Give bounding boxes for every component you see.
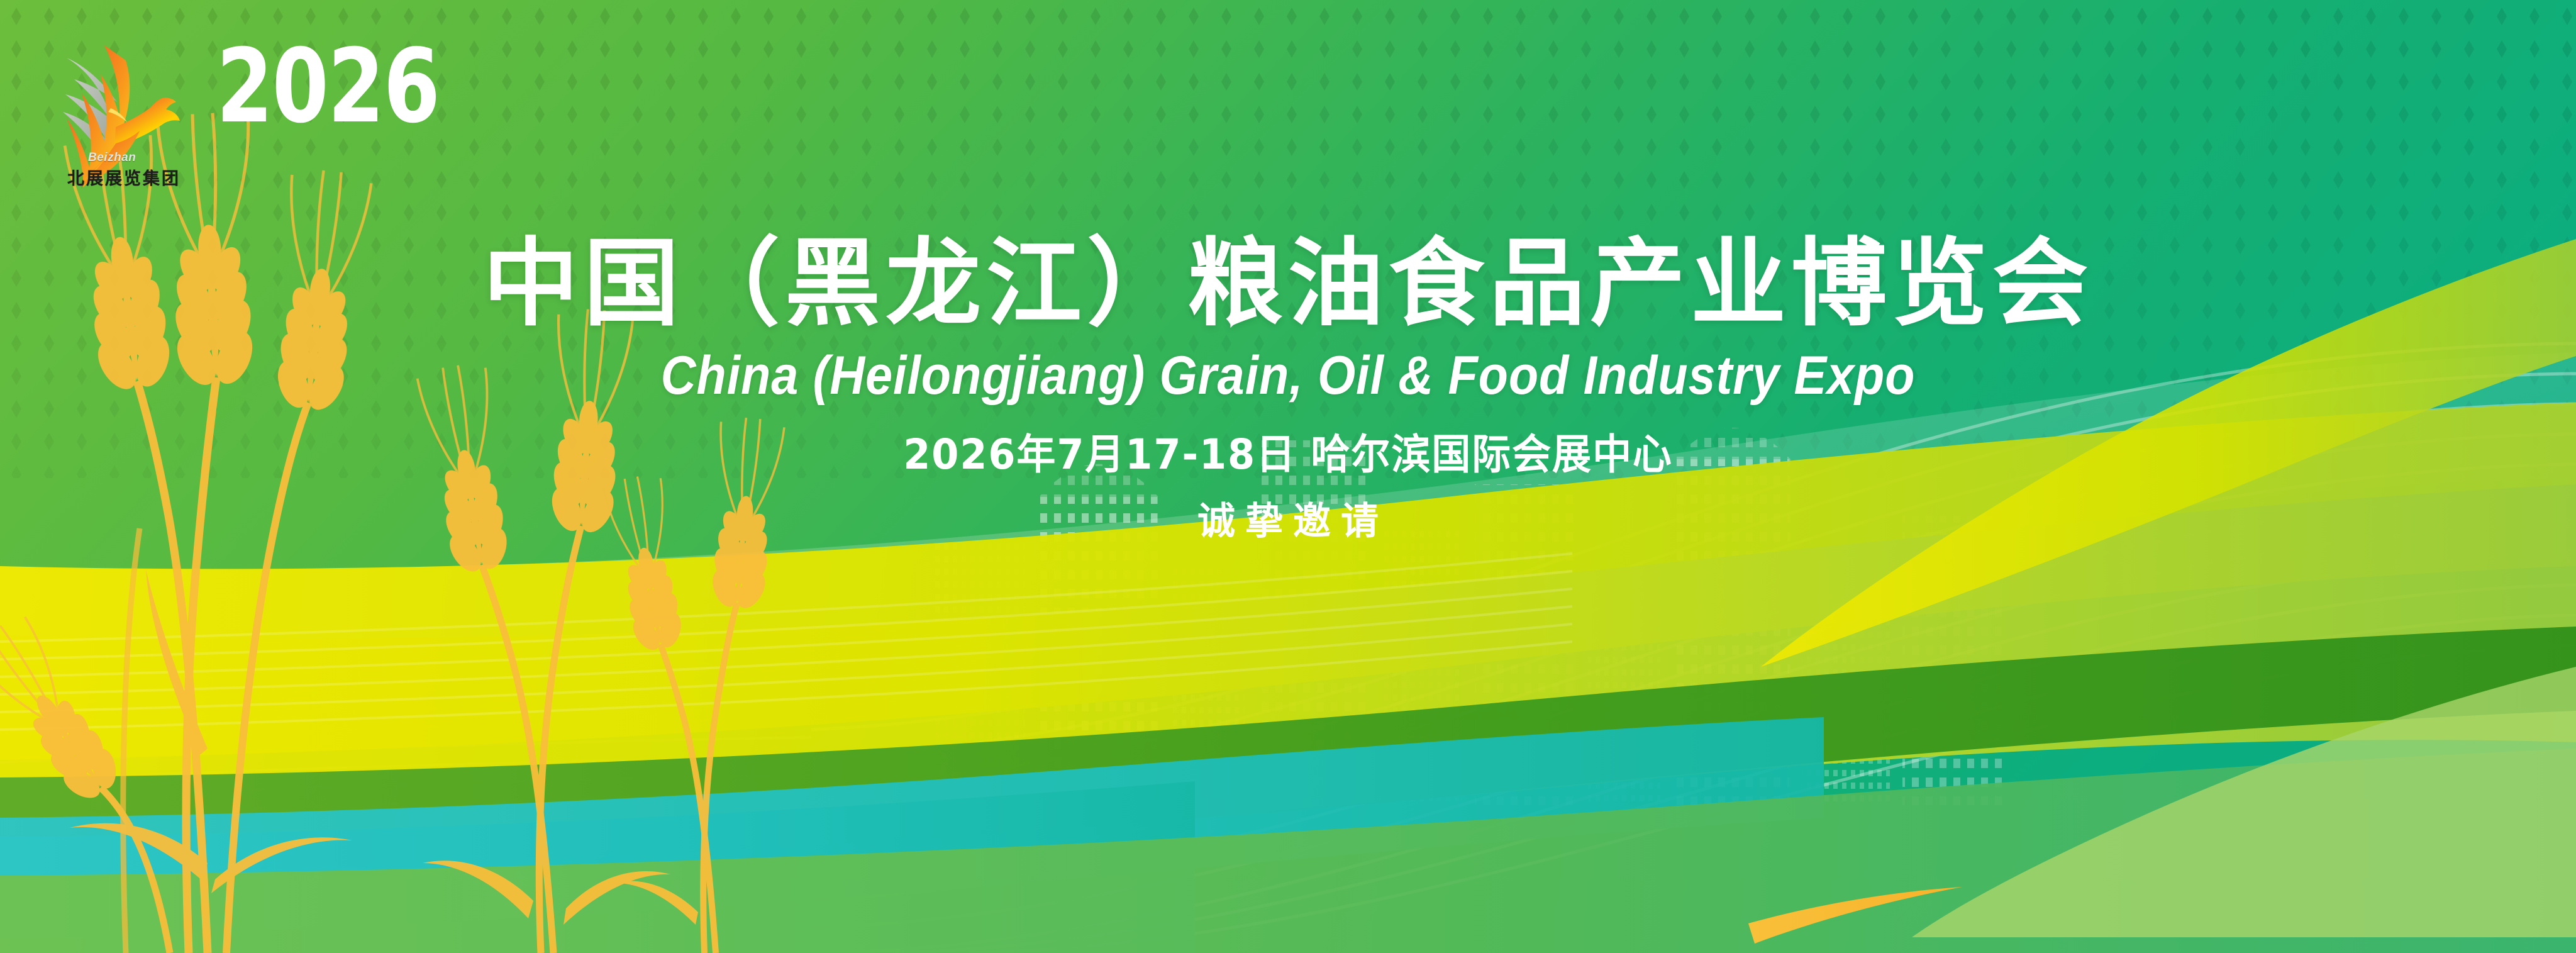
invitation-text: 诚挚邀请 <box>0 501 2576 542</box>
logo-wordmark-cn: 北展展览集团 <box>64 170 184 187</box>
title-chinese: 中国（黑龙江）粮油食品产业博览会 <box>0 233 2576 334</box>
logo-latin-text: Beizhan <box>88 151 136 165</box>
title-english: China (Heilongjiang) Grain, Oil & Food I… <box>129 345 2447 406</box>
brand-logo-block: Beizhan 北展展览集团 2026 <box>55 33 458 190</box>
phoenix-bird-icon: Beizhan 北展展览集团 <box>55 33 186 190</box>
date-and-venue: 2026年7月17-18日 哈尔滨国际会展中心 <box>77 432 2499 478</box>
headline-stack: 中国（黑龙江）粮油食品产业博览会 China (Heilongjiang) Gr… <box>0 233 2576 542</box>
year-2026: 2026 <box>216 40 439 134</box>
expo-banner: Beizhan 北展展览集团 2026 中国（黑龙江）粮油食品产业博览会 Chi… <box>0 0 2576 953</box>
